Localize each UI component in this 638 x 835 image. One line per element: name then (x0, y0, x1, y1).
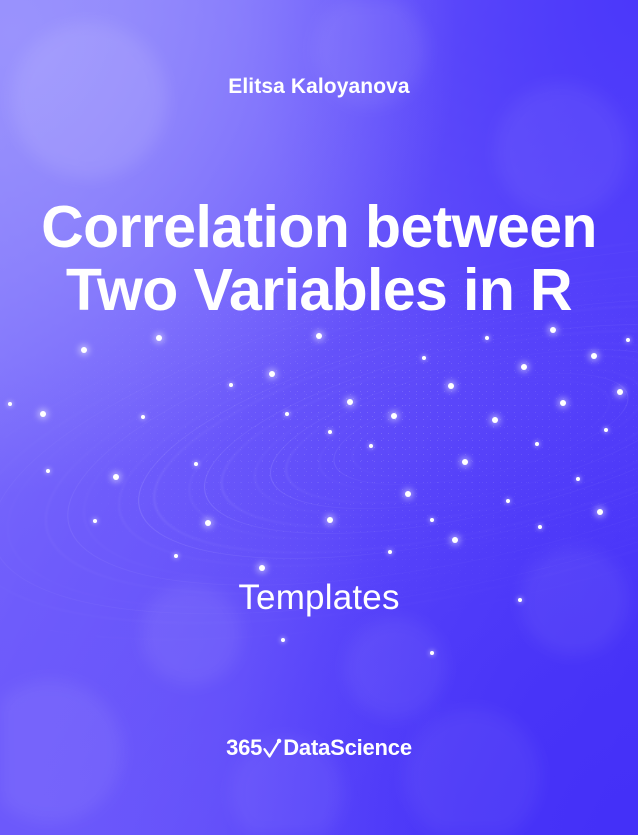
cover-content: Elitsa Kaloyanova Correlation between Tw… (0, 0, 638, 835)
brand-number: 365 (226, 735, 262, 761)
template-cover: Elitsa Kaloyanova Correlation between Tw… (0, 0, 638, 835)
title-line-1: Correlation between (40, 196, 598, 259)
title-line-2: Two Variables in R (40, 259, 598, 322)
cover-title: Correlation between Two Variables in R (40, 196, 598, 321)
radical-checkmark-icon (263, 738, 282, 760)
cover-subtitle: Templates (0, 578, 638, 618)
author-name: Elitsa Kaloyanova (0, 75, 638, 99)
brand-name: DataScience (283, 735, 412, 761)
brand-logo: 365 DataScience (0, 735, 638, 761)
